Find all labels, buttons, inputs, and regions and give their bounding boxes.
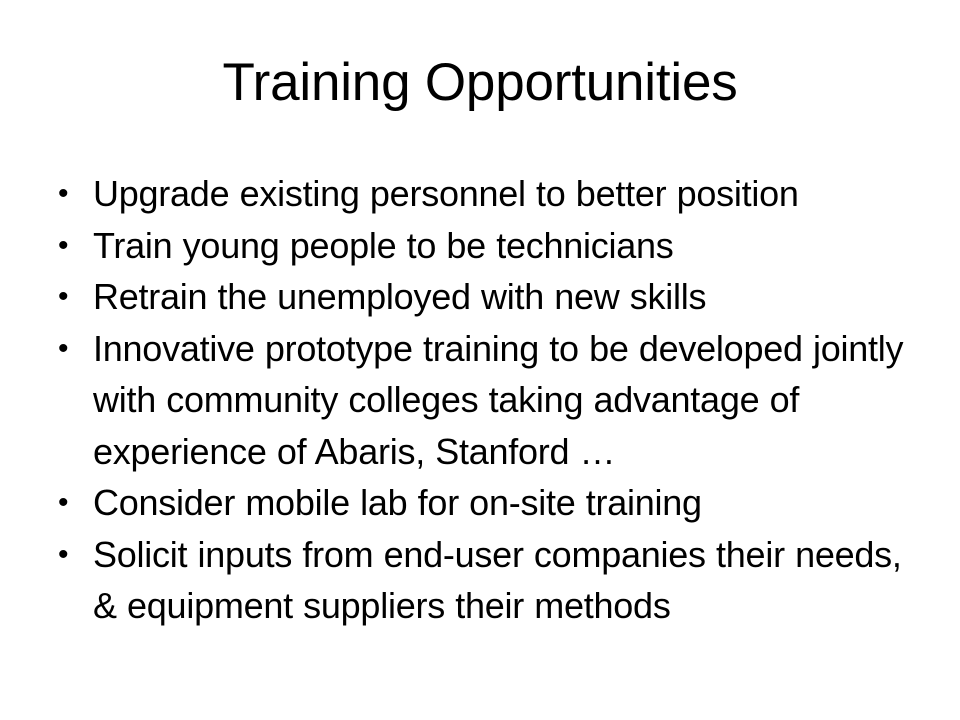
list-item: • Consider mobile lab for on-site traini… [55,477,913,529]
list-item-label: Retrain the unemployed with new skills [93,271,913,323]
list-item: • Solicit inputs from end-user companies… [55,529,913,632]
list-item: • Retrain the unemployed with new skills [55,271,913,323]
slide: Training Opportunities • Upgrade existin… [0,0,960,720]
page-title: Training Opportunities [0,52,960,114]
list-item-label: Consider mobile lab for on-site training [93,477,913,529]
list-item: • Upgrade existing personnel to better p… [55,168,913,220]
list-item-label: Solicit inputs from end-user companies t… [93,529,913,632]
bullet-dot-icon: • [58,477,78,529]
bullet-dot-icon: • [58,220,78,272]
list-item: • Train young people to be technicians [55,220,913,272]
bullet-dot-icon: • [58,529,78,581]
list-item: • Innovative prototype training to be de… [55,323,913,478]
bullet-dot-icon: • [58,168,78,220]
bullet-list: • Upgrade existing personnel to better p… [55,168,913,632]
list-item-label: Upgrade existing personnel to better pos… [93,168,913,220]
list-item-label: Innovative prototype training to be deve… [93,323,913,478]
list-item-label: Train young people to be technicians [93,220,913,272]
bullet-dot-icon: • [58,323,78,375]
bullet-dot-icon: • [58,271,78,323]
